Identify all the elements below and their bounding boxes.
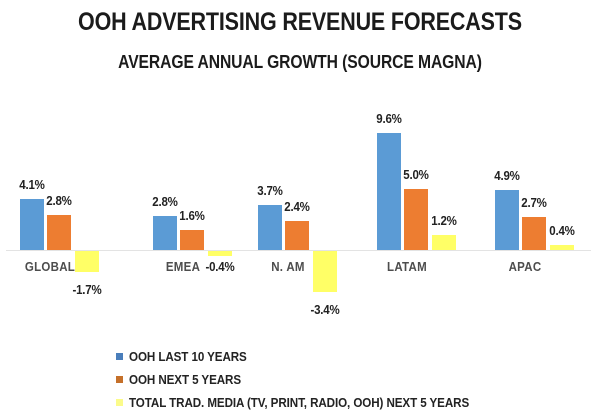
legend-swatch-orange-icon [116,376,123,383]
bar-label-apac-total-trad-media: 0.4% [534,224,589,238]
category-label-global: GLOBAL [9,260,92,274]
bar-label-global-ooh-next-5-years: 2.8% [31,194,86,208]
plot-area: 4.1% 2.8% -1.7% GLOBAL 2.8% 1.6% -0.4% E… [0,0,600,340]
bar-label-n-am-ooh-last-10-years: 3.7% [242,184,297,198]
bar-latam-ooh-last-10-years [377,133,401,250]
category-label-emea: EMEA [142,260,225,274]
bar-n-am-ooh-next-5-years [285,221,309,250]
chart-legend: OOH LAST 10 YEARS OOH NEXT 5 YEARS TOTAL… [116,345,586,414]
legend-item-total-trad-media[interactable]: TOTAL TRAD. MEDIA (TV, PRINT, RADIO, OOH… [116,391,586,414]
bar-label-n-am-ooh-next-5-years: 2.4% [269,200,324,214]
bar-label-apac-ooh-next-5-years: 2.7% [506,196,561,210]
bar-label-latam-total-trad-media: 1.2% [416,214,471,228]
category-label-latam: LATAM [366,260,449,274]
bar-label-global-ooh-last-10-years: 4.1% [4,178,59,192]
bar-label-latam-ooh-next-5-years: 5.0% [388,168,443,182]
bar-global-ooh-next-5-years [47,215,71,250]
bar-label-n-am-total-trad-media: -3.4% [297,303,352,317]
legend-label-total-trad-media: TOTAL TRAD. MEDIA (TV, PRINT, RADIO, OOH… [129,396,469,410]
bar-latam-total-trad-media [432,235,456,250]
legend-label-ooh-last-10-years: OOH LAST 10 YEARS [129,350,247,364]
bar-emea-total-trad-media [208,251,232,256]
legend-item-ooh-last-10-years[interactable]: OOH LAST 10 YEARS [116,345,586,368]
legend-swatch-blue-icon [116,353,123,360]
legend-item-ooh-next-5-years[interactable]: OOH NEXT 5 YEARS [116,368,586,391]
bar-apac-total-trad-media [550,245,574,250]
bar-emea-ooh-next-5-years [180,230,204,250]
bar-label-global-total-trad-media: -1.7% [59,283,114,297]
bar-label-emea-ooh-last-10-years: 2.8% [137,195,192,209]
bar-label-latam-ooh-last-10-years: 9.6% [361,112,416,126]
legend-label-ooh-next-5-years: OOH NEXT 5 YEARS [129,373,241,387]
category-label-apac: APAC [484,260,567,274]
legend-swatch-yellow-icon [116,399,123,406]
category-label-n-am: N. AM [247,260,330,274]
bar-label-apac-ooh-last-10-years: 4.9% [479,169,534,183]
bar-label-emea-ooh-next-5-years: 1.6% [164,209,219,223]
